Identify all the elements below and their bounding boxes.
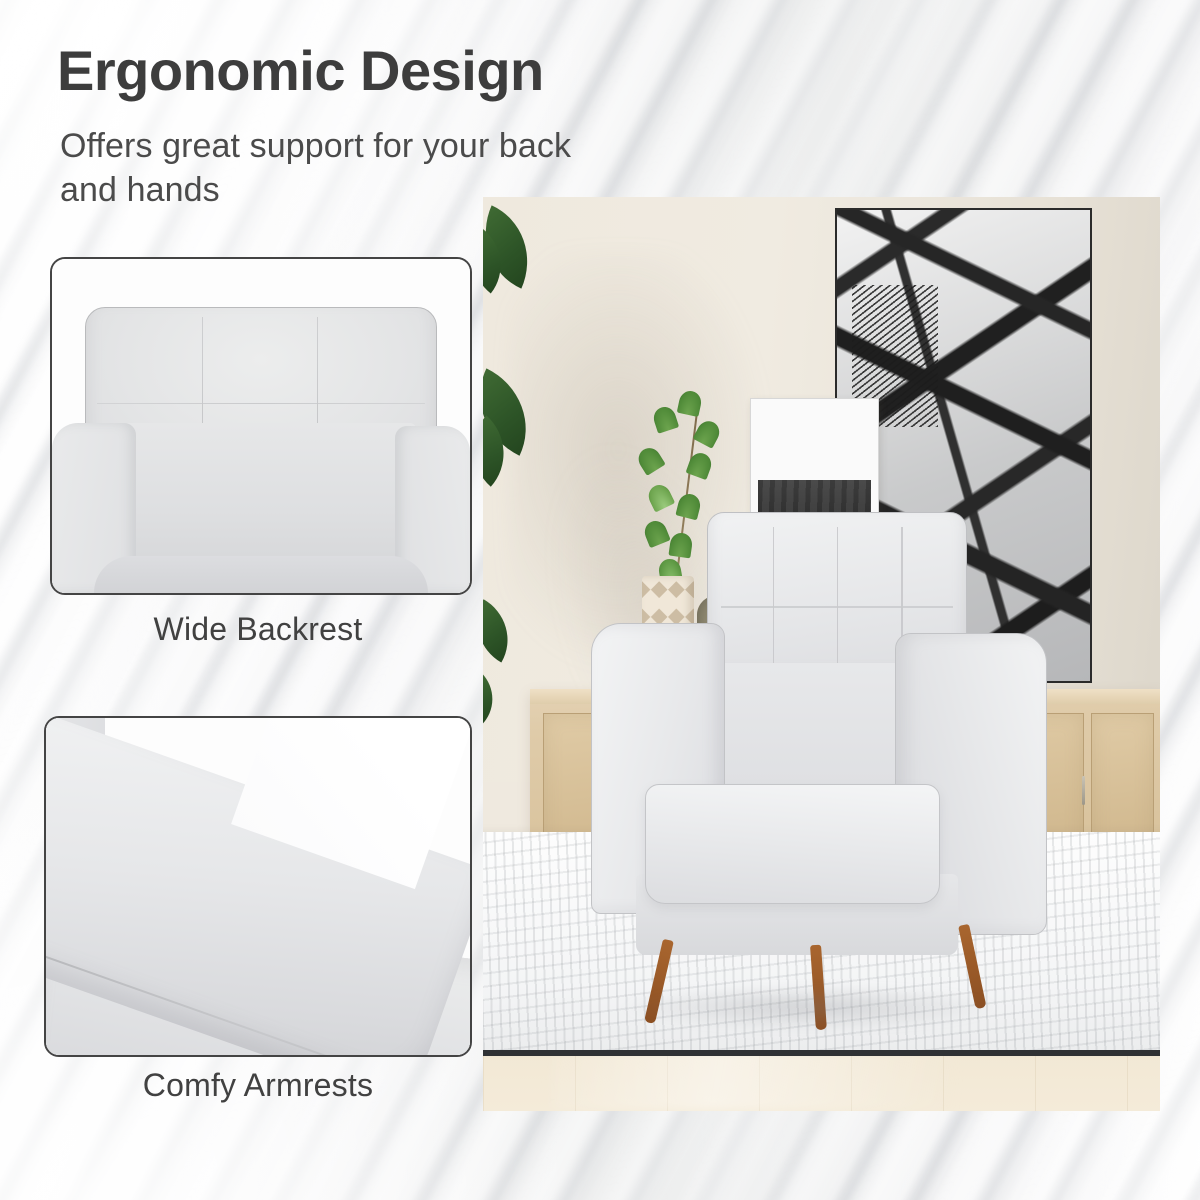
- hero-room-photo: [483, 197, 1160, 1111]
- chair-floor-shadow: [618, 985, 1002, 1030]
- feature-panel-wide-backrest: [50, 257, 472, 595]
- backrest-seat-edge: [94, 556, 428, 593]
- backrest-closeup-image: [52, 259, 470, 593]
- accent-armchair: [591, 512, 1038, 1015]
- page-title: Ergonomic Design: [57, 42, 544, 101]
- feature-caption-wide-backrest: Wide Backrest: [44, 611, 472, 648]
- backrest-lower-panel: [115, 423, 416, 570]
- chair-seat-cushion: [645, 784, 940, 905]
- sideboard-handle: [1082, 776, 1085, 805]
- feature-caption-comfy-armrests: Comfy Armrests: [44, 1067, 472, 1104]
- armrest-closeup-image: [46, 718, 470, 1055]
- product-feature-page: Ergonomic Design Offers great support fo…: [0, 0, 1200, 1200]
- feature-panel-comfy-armrests: [44, 716, 472, 1057]
